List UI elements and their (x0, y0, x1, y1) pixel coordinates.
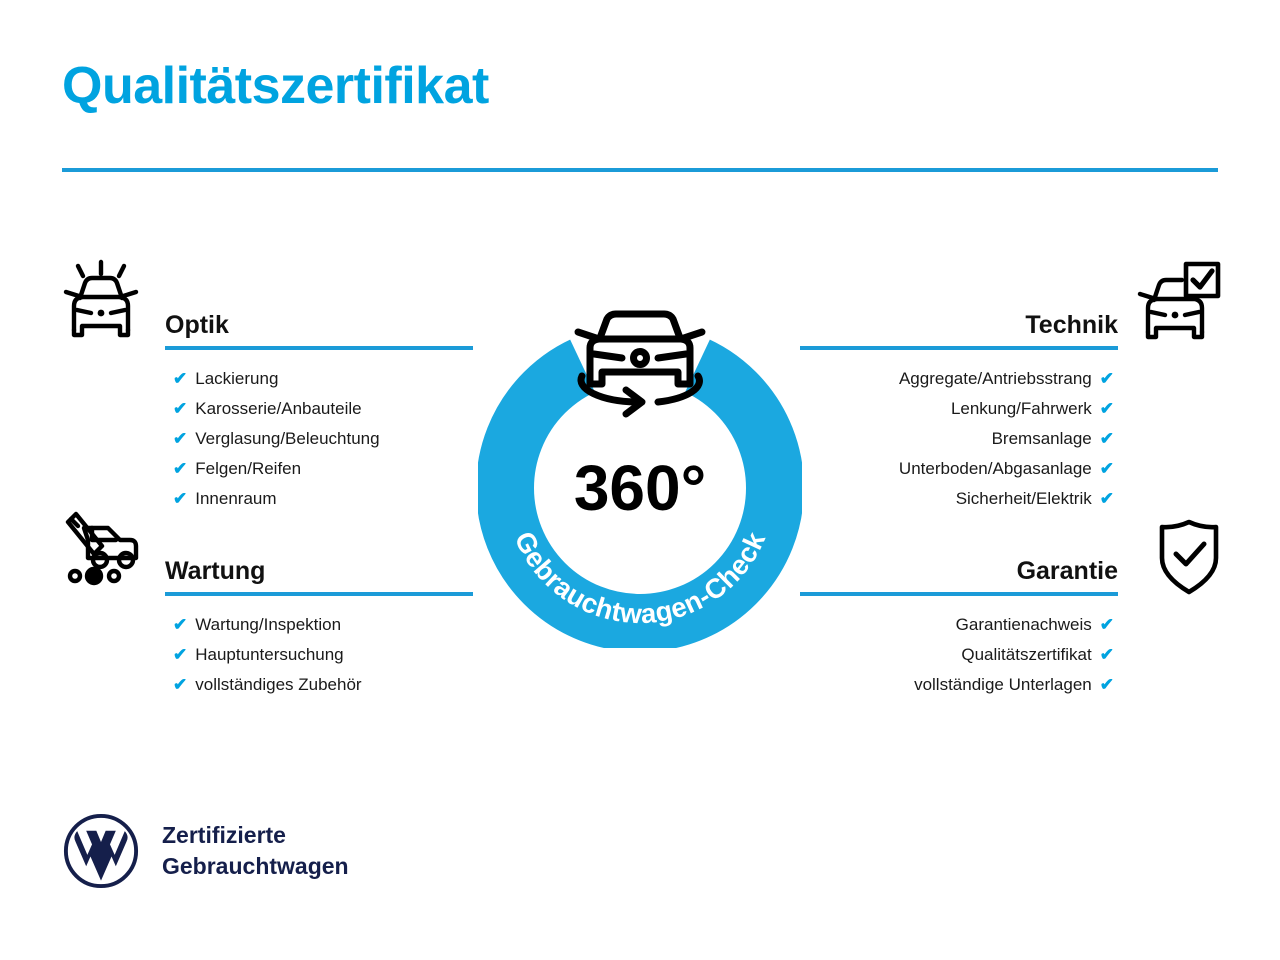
section-garantie: Garantie Garantienachweis✔ Qualitätszert… (800, 544, 1118, 700)
section-technik: Technik Aggregate/Antriebsstrang✔ Lenkun… (800, 298, 1118, 514)
list-item: ✔Felgen/Reifen (165, 454, 473, 484)
list-item-label: Innenraum (195, 484, 276, 514)
list-item-label: Felgen/Reifen (195, 454, 301, 484)
list-item: ✔Karosserie/Anbauteile (165, 394, 473, 424)
section-wartung: Wartung ✔Wartung/Inspektion ✔Hauptunters… (165, 544, 473, 700)
list-item-label: vollständige Unterlagen (914, 670, 1092, 700)
list-item-label: Unterboden/Abgasanlage (899, 454, 1092, 484)
check-icon: ✔ (1100, 454, 1114, 484)
list-item: Qualitätszertifikat✔ (800, 640, 1118, 670)
list-item: ✔Hauptuntersuchung (165, 640, 473, 670)
title-divider (62, 168, 1218, 172)
section-title-optik: Optik (165, 311, 229, 340)
footer-brand-lockup: Zertifizierte Gebrauchtwagen (62, 812, 349, 890)
section-list-optik: ✔Lackierung ✔Karosserie/Anbauteile ✔Verg… (165, 364, 473, 514)
section-header-garantie: Garantie (800, 544, 1118, 596)
section-divider-wartung (165, 592, 473, 596)
list-item-label: Verglasung/Beleuchtung (195, 424, 379, 454)
check-icon: ✔ (173, 394, 187, 424)
section-header-optik: Optik (165, 298, 473, 350)
section-divider-technik (800, 346, 1118, 350)
list-item: ✔vollständiges Zubehör (165, 670, 473, 700)
list-item: ✔Innenraum (165, 484, 473, 514)
list-item-label: Lenkung/Fahrwerk (951, 394, 1092, 424)
check-icon: ✔ (1100, 484, 1114, 514)
list-item: ✔Wartung/Inspektion (165, 610, 473, 640)
section-title-technik: Technik (1025, 311, 1118, 340)
page-title: Qualitätszertifikat (62, 58, 489, 115)
list-item: vollständige Unterlagen✔ (800, 670, 1118, 700)
list-item-label: Garantienachweis (956, 610, 1092, 640)
list-item-label: vollständiges Zubehör (195, 670, 361, 700)
list-item: Bremsanlage✔ (800, 424, 1118, 454)
list-item-label: Wartung/Inspektion (195, 610, 341, 640)
footer-brand-text: Zertifizierte Gebrauchtwagen (162, 820, 349, 882)
car-service-pen-icon (58, 506, 144, 592)
list-item: Aggregate/Antriebsstrang✔ (800, 364, 1118, 394)
section-divider-optik (165, 346, 473, 350)
list-item-label: Lackierung (195, 364, 278, 394)
check-icon: ✔ (1100, 640, 1114, 670)
list-item: ✔Verglasung/Beleuchtung (165, 424, 473, 454)
check-icon: ✔ (173, 670, 187, 700)
list-item-label: Karosserie/Anbauteile (195, 394, 361, 424)
list-item-label: Aggregate/Antriebsstrang (899, 364, 1092, 394)
check-icon: ✔ (1100, 670, 1114, 700)
vw-roundel-icon (62, 812, 140, 890)
list-item: Unterboden/Abgasanlage✔ (800, 454, 1118, 484)
badge-center-text: 360° (574, 452, 706, 524)
check-icon: ✔ (173, 640, 187, 670)
list-item: ✔Lackierung (165, 364, 473, 394)
check-icon: ✔ (1100, 424, 1114, 454)
list-item-label: Sicherheit/Elektrik (956, 484, 1092, 514)
section-list-technik: Aggregate/Antriebsstrang✔ Lenkung/Fahrwe… (800, 364, 1118, 514)
check-icon: ✔ (1100, 364, 1114, 394)
check-icon: ✔ (173, 364, 187, 394)
list-item-label: Bremsanlage (992, 424, 1092, 454)
list-item-label: Qualitätszertifikat (961, 640, 1091, 670)
check-icon: ✔ (1100, 610, 1114, 640)
shield-check-icon (1146, 514, 1232, 600)
list-item: Lenkung/Fahrwerk✔ (800, 394, 1118, 424)
section-list-wartung: ✔Wartung/Inspektion ✔Hauptuntersuchung ✔… (165, 610, 473, 700)
section-header-wartung: Wartung (165, 544, 473, 596)
section-title-wartung: Wartung (165, 557, 265, 586)
list-item: Garantienachweis✔ (800, 610, 1118, 640)
check-icon: ✔ (173, 484, 187, 514)
check-icon: ✔ (173, 424, 187, 454)
check-icon: ✔ (173, 454, 187, 484)
section-divider-garantie (800, 592, 1118, 596)
check-icon: ✔ (173, 610, 187, 640)
list-item-label: Hauptuntersuchung (195, 640, 343, 670)
section-title-garantie: Garantie (1017, 557, 1118, 586)
list-item: Sicherheit/Elektrik✔ (800, 484, 1118, 514)
check-icon: ✔ (1100, 394, 1114, 424)
section-header-technik: Technik (800, 298, 1118, 350)
section-optik: Optik ✔Lackierung ✔Karosserie/Anbauteile… (165, 298, 473, 514)
badge-360-check: 360° Gebrauchtwagen-Check (456, 248, 824, 648)
car-checkbox-icon (1136, 258, 1222, 344)
section-list-garantie: Garantienachweis✔ Qualitätszertifikat✔ v… (800, 610, 1118, 700)
car-front-shine-icon (58, 258, 144, 344)
